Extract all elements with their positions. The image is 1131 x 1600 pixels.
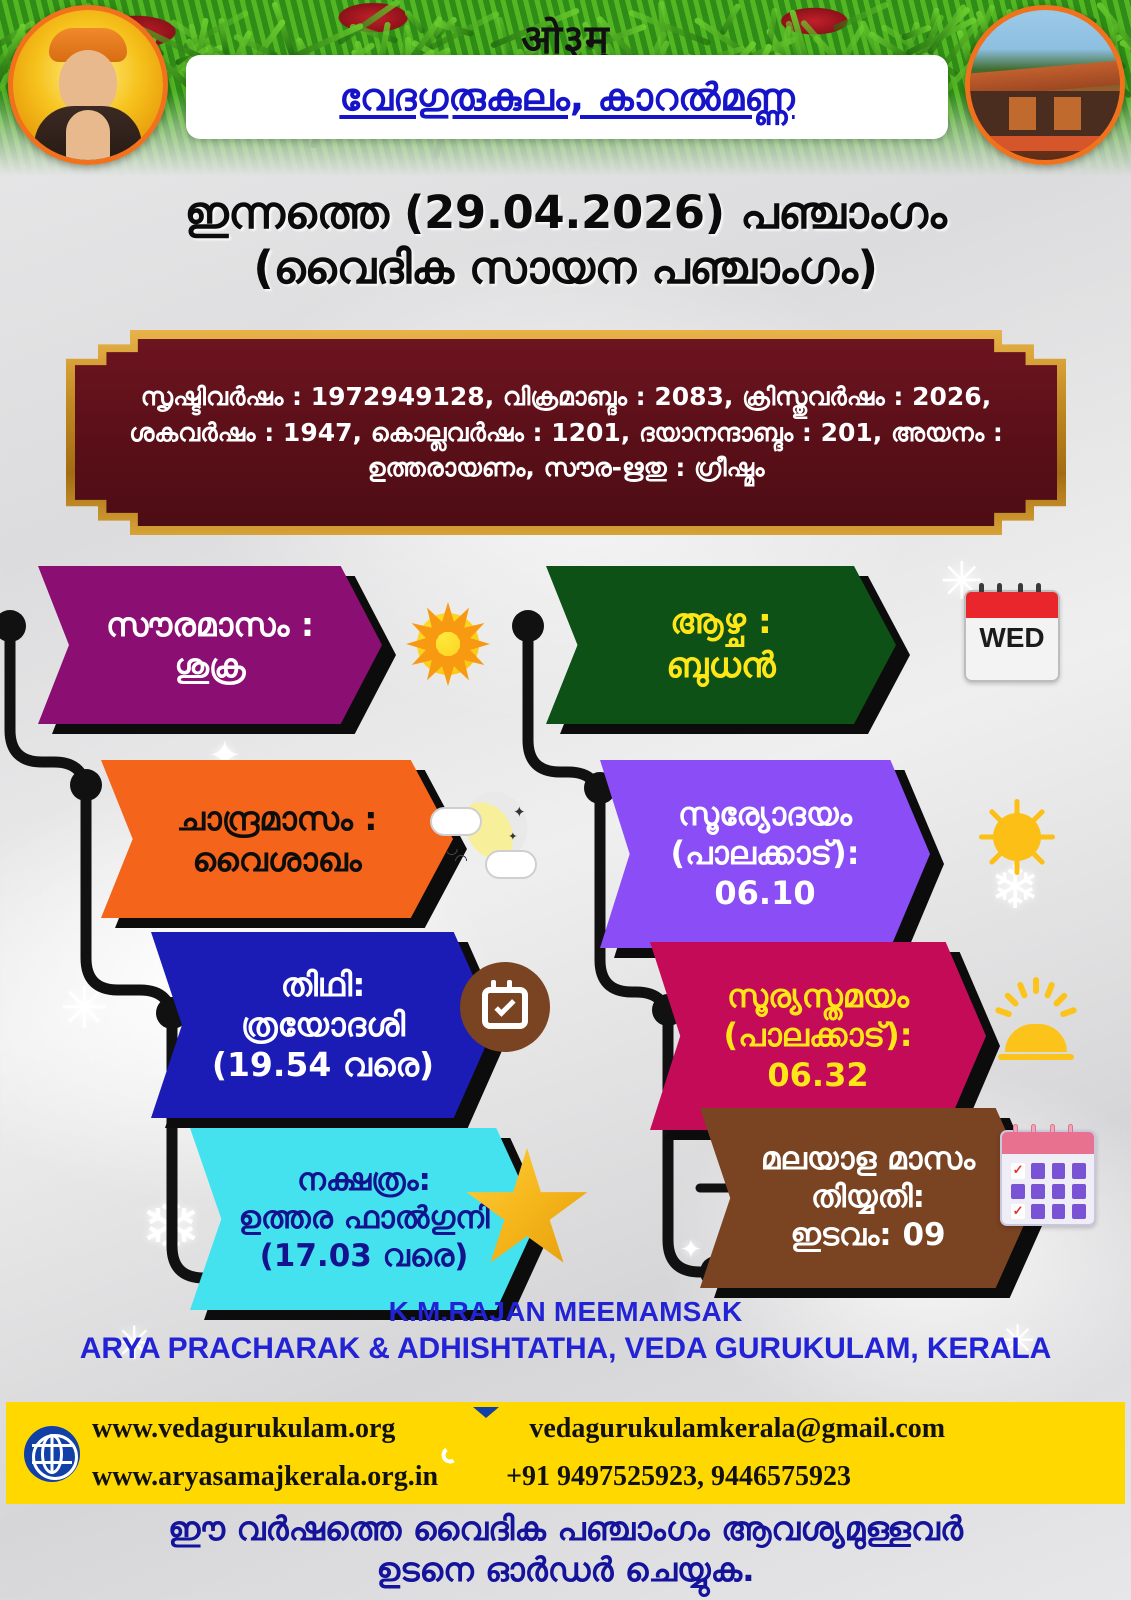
contact-row-1: www.vedagurukulam.org vedagurukulamkeral…: [92, 1405, 945, 1453]
banner-value: (17.03 വരെ): [260, 1238, 469, 1276]
gold-star-icon: [464, 1148, 590, 1274]
phone-number[interactable]: +91 9497525923, 9446575923: [506, 1461, 851, 1493]
banner-chandra-masam[interactable]: ചാന്ദ്രമാസം : വൈശാഖം: [101, 760, 453, 918]
page-title-line1: ഇന്നത്തെ (29.04.2026) പഞ്ചാംഗം: [0, 186, 1131, 241]
era-info-plaque: സൃഷ്ടിവർഷം : 1972949128, വിക്രമാബ്ദം : 2…: [66, 330, 1066, 535]
banner-sooryodayam[interactable]: സൂര്യോദയം (പാലക്കാട്): 06.10: [600, 760, 930, 948]
mail-icon: [473, 1407, 517, 1451]
closing-line1: ഈ വർഷത്തെ വൈദിക പഞ്ചാംഗം ആവശ്യമുള്ളവർ: [0, 1508, 1131, 1549]
website-1[interactable]: www.vedagurukulam.org: [92, 1413, 395, 1445]
banner-line: സൂര്യോദയം: [678, 795, 852, 834]
crescent-moon-icon: ✦ ✦: [428, 778, 546, 890]
website-2[interactable]: www.aryasamajkerala.org.in: [92, 1461, 438, 1493]
banner-line: സൂര്യസ്തമയം: [727, 977, 909, 1016]
contact-row-2: www.aryasamajkerala.org.in +91 949752592…: [92, 1453, 945, 1501]
banner-line: തിയ്യതി:: [811, 1179, 925, 1217]
banner-azhcha[interactable]: ആഴ്ച : ബുധൻ: [546, 566, 896, 724]
organization-name-plate: വേദഗുരുകുലം, കാറൽമണ്ണ: [186, 55, 948, 139]
banner-soura-masam[interactable]: സൗരമാസം : ശുക്ര: [38, 566, 382, 724]
banner-line: ത്രയോദശി: [241, 1005, 405, 1045]
calendar-check-icon: [460, 962, 550, 1052]
banner-line: മലയാള മാസം: [761, 1141, 975, 1179]
banner-line: ചാന്ദ്രമാസം :: [176, 798, 377, 839]
banner-sooryasthamayam[interactable]: സൂര്യസ്തമയം (പാലക്കാട്): 06.32: [650, 942, 986, 1130]
banner-line: സൗരമാസം :: [106, 604, 314, 645]
author-designation: ARYA PRACHARAK & ADHISHTATHA, VEDA GURUK…: [0, 1332, 1131, 1366]
closing-message: ഈ വർഷത്തെ വൈദിക പഞ്ചാംഗം ആവശ്യമുള്ളവർ ഉട…: [0, 1508, 1131, 1591]
banner-value: (19.54 വരെ): [212, 1045, 434, 1085]
email-address[interactable]: vedagurukulamkerala@gmail.com: [529, 1413, 945, 1445]
banner-value: 06.32: [767, 1056, 868, 1095]
sunrise-icon: [962, 782, 1072, 892]
banner-line: തിഥി:: [281, 965, 366, 1005]
banner-value: ഇടവം: 09: [790, 1217, 945, 1255]
wed-calendar-label: WED: [966, 622, 1058, 654]
wed-calendar-icon: WED: [964, 590, 1060, 682]
banner-line: (പാലക്കാട്):: [723, 1016, 912, 1055]
organization-name: വേദഗുരുകുലം, കാറൽമണ്ണ: [339, 75, 794, 120]
banner-line: ശുക്ര: [174, 645, 245, 686]
banner-malayala-masam[interactable]: മലയാള മാസം തിയ്യതി: ഇടവം: 09: [700, 1108, 1036, 1288]
contact-bar: www.vedagurukulam.org vedagurukulamkeral…: [6, 1402, 1125, 1504]
closing-line2: ഉടനെ ഓർഡർ ചെയ്യുക.: [0, 1549, 1131, 1590]
sunset-icon: [976, 960, 1096, 1070]
banner-line: (പാലക്കാട്):: [670, 834, 859, 873]
banner-line: ബുധൻ: [666, 645, 775, 689]
banner-thithi[interactable]: തിഥി: ത്രയോദശി (19.54 വരെ): [151, 932, 495, 1118]
grid-calendar-icon: [1000, 1130, 1096, 1226]
banner-value: 06.10: [714, 874, 815, 913]
globe-icon: [24, 1426, 80, 1482]
page-title-line2: (വൈദിക സായന പഞ്ചാംഗം): [0, 241, 1131, 296]
banner-line: ഉത്തര ഫാൽഗുനി: [239, 1200, 490, 1238]
page-title: ഇന്നത്തെ (29.04.2026) പഞ്ചാംഗം (വൈദിക സാ…: [0, 186, 1131, 296]
credit-block: K.M.RAJAN MEEMAMSAK ARYA PRACHARAK & ADH…: [0, 1296, 1131, 1366]
header: ओ३म् വേദഗുരുകുലം, കാറൽമണ്ണ: [0, 0, 1131, 176]
banner-line: വൈശാഖം: [192, 839, 361, 880]
banner-line: നക്ഷത്രം:: [297, 1162, 431, 1200]
author-name: K.M.RAJAN MEEMAMSAK: [0, 1296, 1131, 1328]
phone-icon: [450, 1455, 494, 1499]
banner-line: ആഴ്ച :: [670, 601, 772, 645]
spiky-sun-icon: [392, 588, 504, 700]
era-info-text: സൃഷ്ടിവർഷം : 1972949128, വിക്രമാബ്ദം : 2…: [124, 350, 1008, 515]
